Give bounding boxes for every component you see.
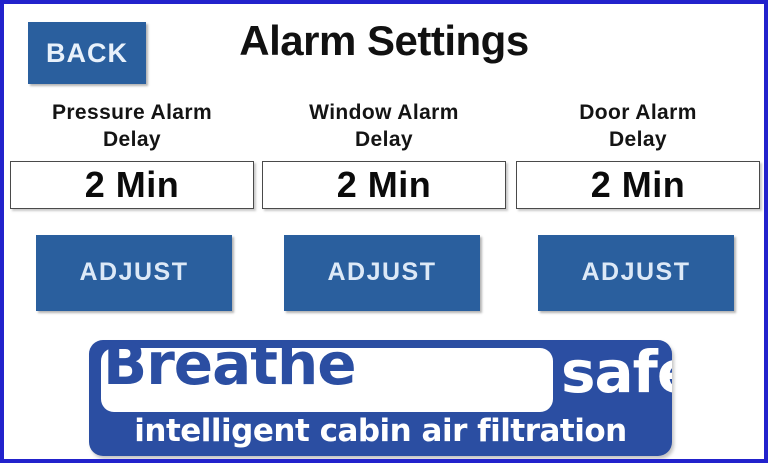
setting-column-door-alarm: Door Alarm Delay 2 Min ADJUST <box>516 100 760 311</box>
value-box-door-alarm[interactable]: 2 Min <box>516 161 760 209</box>
value-box-pressure-alarm[interactable]: 2 Min <box>10 161 254 209</box>
page-title: Alarm Settings <box>164 17 604 65</box>
adjust-button-window-alarm[interactable]: ADJUST <box>284 235 480 311</box>
setting-column-pressure-alarm: Pressure Alarm Delay 2 Min ADJUST <box>10 100 254 311</box>
breathesafe-logo: Breathe safe intelligent cabin air filtr… <box>89 340 672 456</box>
back-button-label: BACK <box>46 38 128 69</box>
alarm-settings-screen: BACK Alarm Settings Pressure Alarm Delay… <box>0 0 768 463</box>
back-button[interactable]: BACK <box>28 22 146 84</box>
setting-label-line2: Delay <box>262 127 506 154</box>
logo-word-safe: safe <box>561 343 672 401</box>
setting-label-window-alarm: Window Alarm Delay <box>262 100 506 154</box>
setting-label-line1: Window Alarm <box>309 101 459 124</box>
setting-label-pressure-alarm: Pressure Alarm Delay <box>10 100 254 154</box>
value-text-door-alarm: 2 Min <box>591 167 686 203</box>
logo-tagline: intelligent cabin air filtration <box>89 416 672 447</box>
adjust-button-label: ADJUST <box>327 258 436 287</box>
setting-label-line2: Delay <box>516 127 760 154</box>
adjust-button-label: ADJUST <box>79 258 188 287</box>
value-box-window-alarm[interactable]: 2 Min <box>262 161 506 209</box>
setting-label-line1: Pressure Alarm <box>52 101 212 124</box>
setting-column-window-alarm: Window Alarm Delay 2 Min ADJUST <box>262 100 506 311</box>
adjust-button-label: ADJUST <box>581 258 690 287</box>
adjust-button-door-alarm[interactable]: ADJUST <box>538 235 734 311</box>
value-text-window-alarm: 2 Min <box>337 167 432 203</box>
setting-label-line2: Delay <box>10 127 254 154</box>
logo-word-breathe: Breathe <box>103 340 356 393</box>
value-text-pressure-alarm: 2 Min <box>85 167 180 203</box>
setting-label-door-alarm: Door Alarm Delay <box>516 100 760 154</box>
adjust-button-pressure-alarm[interactable]: ADJUST <box>36 235 232 311</box>
setting-label-line1: Door Alarm <box>579 101 697 124</box>
